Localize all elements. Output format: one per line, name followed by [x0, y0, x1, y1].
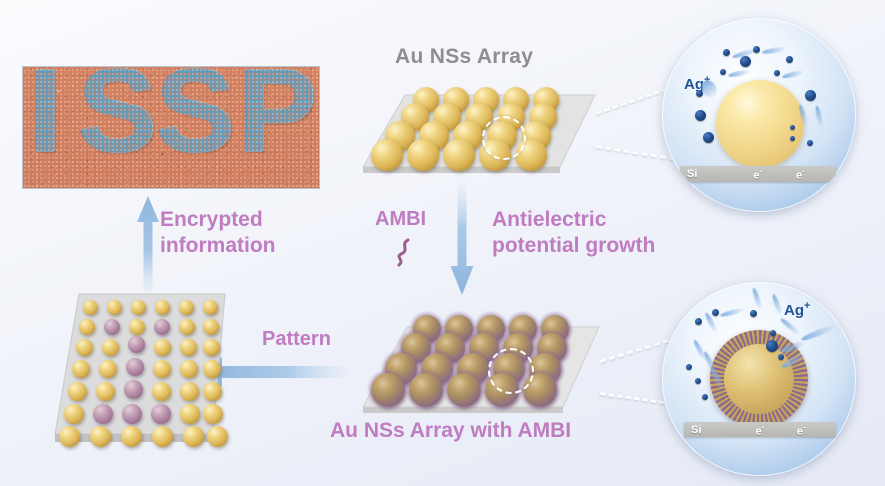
ion-streak	[720, 307, 744, 318]
magnify-highlight-circle	[482, 116, 526, 160]
ion-streak	[771, 293, 783, 315]
magnify-highlight-circle	[488, 348, 534, 394]
ambi-label: AMBI	[375, 207, 426, 231]
au-nanosphere	[83, 300, 98, 315]
au-nss-array-title: Au NSs Array	[395, 44, 533, 70]
au-nanosphere	[407, 139, 439, 171]
issp-micrograph: I S S P	[22, 66, 320, 189]
au-nanosphere	[102, 339, 119, 356]
au-nanosphere	[179, 300, 194, 315]
au-nanosphere	[131, 300, 146, 315]
au-nanosphere	[59, 426, 80, 447]
au-nanosphere	[76, 339, 93, 356]
silver-ion	[766, 340, 778, 352]
patterned-purple-nanosphere	[122, 404, 142, 424]
silver-ion	[695, 378, 701, 384]
inset-ambi-coated-nanosphere: Si e- e- Ag+	[662, 282, 856, 476]
silver-ion	[696, 90, 703, 97]
patterned-purple-nanosphere	[151, 404, 171, 424]
au-nanosphere	[68, 382, 87, 401]
ion-streak	[751, 287, 763, 309]
issp-letter-s1: S	[78, 66, 157, 159]
silver-ion	[723, 49, 730, 56]
au-nanosphere	[179, 319, 195, 335]
encrypted-information-label: Encrypted information	[160, 207, 276, 258]
ambi-coated-nanosphere	[371, 373, 405, 407]
ion-streak	[814, 105, 823, 128]
silver-ion	[695, 318, 702, 325]
silver-ion	[805, 90, 816, 101]
patterned-purple-nanosphere	[128, 336, 145, 353]
au-nanosphere	[180, 382, 199, 401]
silver-ion	[770, 330, 776, 336]
au-nanosphere	[203, 404, 223, 424]
ion-streak	[800, 323, 836, 342]
silver-ion	[686, 364, 692, 370]
silver-ion	[807, 140, 813, 146]
patterned-purple-nanosphere	[154, 319, 170, 335]
ambi-coated-nanosphere	[409, 373, 443, 407]
au-nanosphere	[371, 139, 403, 171]
antielectric-potential-growth-label: Antielectric potential growth	[492, 207, 655, 258]
au-nanosphere	[203, 382, 222, 401]
silver-ion	[790, 125, 795, 130]
au-nanosphere	[152, 426, 173, 447]
patterned-purple-nanosphere	[124, 380, 143, 399]
au-nanosphere	[90, 426, 111, 447]
silver-ion	[712, 309, 719, 316]
au-nanosphere	[207, 426, 228, 447]
silver-ion	[778, 354, 784, 360]
silver-ion	[695, 110, 706, 121]
issp-letter-p: P	[238, 66, 317, 159]
au-nanosphere	[180, 360, 198, 378]
ion-streak	[782, 69, 805, 79]
issp-letter-i: I	[29, 66, 62, 159]
patterned-purple-nanosphere	[126, 358, 144, 376]
ion-streak	[762, 46, 787, 55]
silver-ion	[750, 310, 757, 317]
patterned-purple-nanosphere	[104, 319, 120, 335]
au-nanosphere	[129, 319, 145, 335]
au-nanosphere-core	[716, 80, 804, 168]
au-nanosphere	[203, 319, 219, 335]
au-nanosphere	[203, 339, 220, 356]
au-nanosphere	[180, 404, 200, 424]
silver-ion	[753, 46, 760, 53]
electron-label-1: e-	[755, 422, 764, 437]
silicon-substrate-bar: Si e- e-	[684, 422, 836, 437]
inset-bare-au-nanosphere: Si e- e- Ag+	[662, 18, 856, 212]
silver-ion	[774, 70, 780, 76]
au-nanosphere	[96, 382, 115, 401]
silver-ion	[740, 56, 751, 67]
au-nanosphere	[64, 404, 84, 424]
au-nanosphere	[153, 360, 171, 378]
ion-streak	[728, 69, 751, 78]
au-nanosphere	[107, 300, 122, 315]
au-nanosphere	[203, 360, 221, 378]
pattern-label: Pattern	[262, 327, 331, 351]
au-nanosphere	[72, 360, 90, 378]
au-nanosphere	[79, 319, 95, 335]
electron-label-2: e-	[797, 422, 806, 437]
silver-ion	[702, 394, 708, 400]
si-label: Si	[691, 424, 701, 436]
au-nanosphere	[152, 382, 171, 401]
arrow-down-antielectric-growth	[448, 180, 476, 295]
au-nanosphere	[155, 300, 170, 315]
electron-label-2: e-	[796, 167, 805, 182]
silver-ion	[786, 56, 793, 63]
patterned-array-illustration	[43, 292, 248, 450]
au-nanosphere	[203, 300, 218, 315]
ambi-coated-nanosphere	[447, 373, 481, 407]
patterned-purple-nanosphere	[93, 404, 113, 424]
scheme-figure: I S S P Au NSs Array Encrypted informati…	[0, 0, 885, 486]
silver-ion	[703, 132, 714, 143]
silver-ion	[720, 69, 726, 75]
au-nanosphere	[180, 339, 197, 356]
ambi-molecule-squiggle-icon	[392, 238, 416, 268]
au-nss-array-with-ambi-caption: Au NSs Array with AMBI	[330, 418, 571, 444]
issp-letter-s2: S	[156, 66, 235, 159]
silver-ion	[790, 136, 795, 141]
au-nanosphere	[99, 360, 117, 378]
ag-ion-label: Ag+	[784, 300, 810, 319]
au-nanosphere	[183, 426, 204, 447]
ambi-coated-array-illustration	[355, 315, 615, 420]
electron-label-1: e-	[753, 167, 762, 182]
au-nss-array-illustration	[355, 85, 610, 180]
au-nanosphere	[121, 426, 142, 447]
ion-streak	[779, 317, 801, 336]
au-nanosphere	[443, 139, 475, 171]
arrow-up-encrypted	[135, 196, 161, 296]
au-nanosphere	[154, 339, 171, 356]
si-label: Si	[687, 168, 697, 180]
silicon-substrate-bar: Si e- e-	[680, 166, 836, 182]
